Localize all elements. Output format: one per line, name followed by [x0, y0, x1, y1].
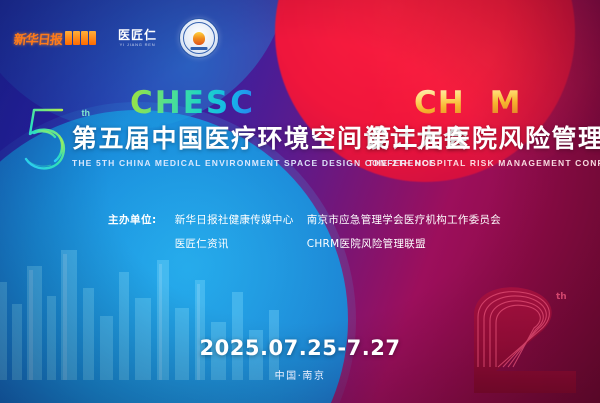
organizer-item: 南京市应急管理学会医疗机构工作委员会 [307, 212, 501, 227]
organizers-label: 主办单位: [108, 212, 157, 251]
organizers-column-one: 新华日报社健康传媒中心 医匠仁资讯 [175, 212, 307, 251]
emblem-flame-icon [193, 32, 205, 45]
edition-5-numeral: th [16, 102, 78, 174]
organizer-item: CHRM医院风险管理联盟 [307, 236, 501, 251]
chrm-title-cn: 第二届医院风险管理大会 [366, 126, 600, 151]
logo-yjr-cn-text: 医匠仁 [118, 29, 157, 41]
event-location: 中国·南京 [0, 367, 600, 382]
sponsor-logo-bar: 新华日报 医匠仁 YI JIANG REN [14, 18, 219, 58]
chrm-acronym-part1: CH [414, 85, 465, 121]
edition-5-suffix: th [82, 108, 91, 118]
logo-xinhua-blocks-icon [65, 31, 96, 45]
chrm-title-en: THE 2TH HOSPITAL RISK MANAGEMENT CONFERE… [368, 158, 600, 168]
headline-zone: th CHESC 第五届中国医疗环境空间设计大会 THE 5TH CHINA M… [0, 88, 600, 190]
organizers-column-two: 南京市应急管理学会医疗机构工作委员会 CHRM医院风险管理联盟 [307, 212, 501, 251]
chesc-acronym: CHESC [130, 88, 255, 119]
right-conference-branding: CHRM 第二届医院风险管理大会 THE 2TH HOSPITAL RISK M… [366, 88, 594, 190]
left-conference-branding: th CHESC 第五届中国医疗环境空间设计大会 THE 5TH CHINA M… [10, 88, 358, 190]
event-date: 2025.07.25-7.27 [0, 336, 600, 360]
chrm-acronym-part2: M [490, 85, 522, 121]
organizers-section: 主办单位: 新华日报社健康传媒中心 医匠仁资讯 南京市应急管理学会医疗机构工作委… [108, 212, 501, 251]
conference-poster: th 新华日报 医匠仁 YI JIANG REN [0, 0, 600, 403]
event-date-section: 2025.07.25-7.27 中国·南京 [0, 336, 600, 382]
chrm-acronym-flipped-r: R [465, 88, 490, 119]
logo-xinhua-daily-health: 新华日报 [14, 27, 96, 49]
emblem-ring-icon [183, 22, 215, 54]
organizer-item: 医匠仁资讯 [175, 236, 307, 251]
chrm-acronym: CHRM [414, 88, 521, 119]
svg-text:th: th [556, 292, 567, 302]
organizer-item: 新华日报社健康传媒中心 [175, 212, 307, 227]
logo-yi-jiang-ren: 医匠仁 YI JIANG REN [118, 29, 157, 47]
emblem-base-icon [191, 47, 208, 50]
logo-association-emblem-icon [179, 18, 219, 58]
logo-yjr-en-text: YI JIANG REN [120, 43, 156, 47]
logo-xinhua-text: 新华日报 [13, 29, 63, 48]
